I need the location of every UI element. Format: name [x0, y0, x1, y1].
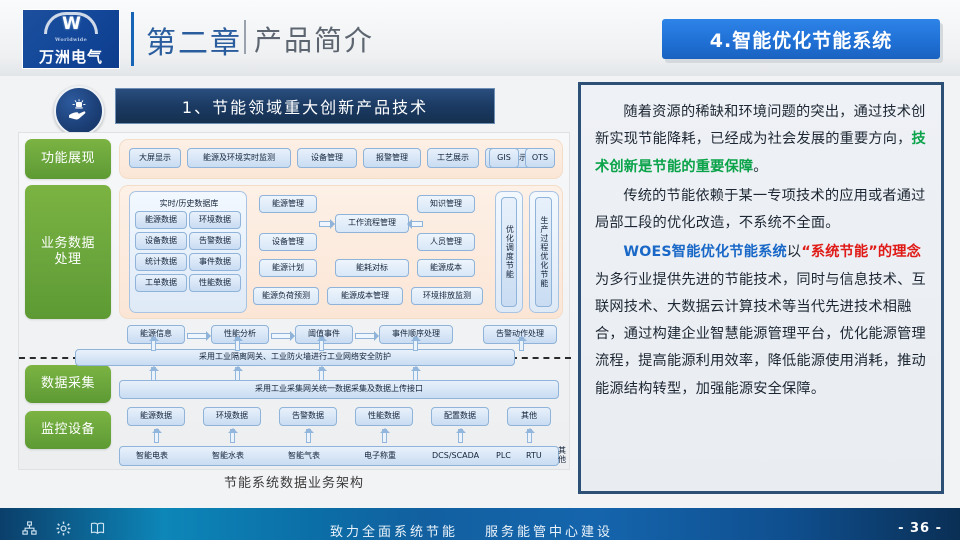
arrow-updown-data-3	[380, 429, 389, 443]
mgmt-row3-0[interactable]: 能源负荷预测	[253, 287, 319, 305]
arrow-updown-gw-1	[233, 367, 242, 381]
arrow-event-0-1	[187, 333, 207, 339]
data-item-1[interactable]: 环境数据	[203, 407, 261, 426]
mgmt-row2-1[interactable]: 能耗对标	[335, 259, 409, 277]
book-icon[interactable]	[90, 521, 105, 540]
section-title-label: 1、节能领域重大创新产品技术	[182, 94, 428, 118]
arrow-updown-gw-2	[317, 367, 326, 381]
function-item-0[interactable]: 大屏显示	[129, 148, 181, 168]
arrow-updown-gw-0	[149, 367, 158, 381]
arrow-event-2-3	[355, 333, 375, 339]
device-item-3[interactable]: 电子称重	[364, 452, 396, 461]
footer-slogan-1: 致力全面系统节能	[330, 521, 458, 540]
mgmt-row3-2[interactable]: 环境排放监测	[411, 287, 483, 305]
device-item-4[interactable]: DCS/SCADA	[432, 452, 479, 461]
paragraph-3: WOES智能优化节能系统以“系统节能”的理念为多行业提供先进的节能技术，同时与信…	[595, 239, 927, 403]
paragraph-3-product-name: WOES智能优化节能系统	[623, 244, 787, 260]
chapter-subtitle: 产品简介	[254, 19, 374, 59]
layer-label-function: 功能展现	[25, 139, 111, 179]
paragraph-2: 传统的节能依赖于某一专项技术的应用或者通过局部工段的优化改造，不系统不全面。	[595, 183, 927, 238]
data-item-5[interactable]: 其他	[507, 407, 551, 426]
layer-label-business: 业务数据 处理	[25, 185, 111, 319]
function-item-6[interactable]: GIS	[489, 148, 519, 168]
db-cell-1[interactable]: 环境数据	[189, 211, 241, 229]
paragraph-3-text-d: 为多行业提供先进的节能技术，同时与信息技术、互联网技术、大数据云计算技术等当代先…	[595, 272, 926, 397]
logo-company-name: 万洲电气	[39, 46, 103, 67]
slide-footer: 致力全面系统节能 服务能管中心建设 - 36 -	[0, 508, 960, 540]
optimization-item-1[interactable]: 生产过程优化节能	[535, 197, 552, 307]
slide-header: W Worldwide 万洲电气 第二章 产品简介 4.智能优化节能系统	[0, 0, 960, 76]
arrow-updown-data-5	[525, 429, 534, 443]
chapter-title: 第二章	[146, 18, 242, 62]
arrow-left-to-workflow	[319, 221, 331, 227]
collection-gateway-bar: 采用工业采集网关统一数据采集及数据上传接口	[119, 380, 559, 399]
device-item-1[interactable]: 智能水表	[212, 452, 244, 461]
device-item-0[interactable]: 智能电表	[136, 452, 168, 461]
db-cell-2[interactable]: 设备数据	[135, 232, 187, 250]
device-item-5[interactable]: PLC	[496, 452, 511, 461]
data-item-2[interactable]: 告警数据	[279, 407, 337, 426]
function-item-2[interactable]: 设备管理	[297, 148, 357, 168]
function-item-3[interactable]: 报警管理	[363, 148, 421, 168]
paragraph-1: 随着资源的稀缺和环境问题的突出，通过技术创新实现节能降耗，已经成为社会发展的重要…	[595, 99, 927, 181]
footer-slogan-2: 服务能管中心建设	[485, 521, 613, 540]
db-cell-0[interactable]: 能源数据	[135, 211, 187, 229]
logo-w-letter: W	[44, 14, 98, 34]
data-item-0[interactable]: 能源数据	[127, 407, 185, 426]
db-cell-4[interactable]: 统计数据	[135, 253, 187, 271]
section-title-bar: 1、节能领域重大创新产品技术	[115, 88, 495, 124]
layer-label-collection: 数据采集	[25, 365, 111, 403]
arrow-updown-data-4	[456, 429, 465, 443]
arrow-event-1-2	[271, 333, 291, 339]
db-cell-6[interactable]: 工单数据	[135, 274, 187, 292]
mgmt-right-0[interactable]: 知识管理	[417, 195, 475, 213]
header-divider	[131, 12, 134, 66]
section-badge-label: 4.智能优化节能系统	[710, 26, 892, 53]
device-item-7[interactable]: 其他	[558, 447, 566, 465]
architecture-diagram: 功能展现 业务数据 处理 数据采集 监控设备 大屏显示 能源及环境实时监测 设备…	[18, 132, 570, 470]
logo-emblem-icon: W	[44, 12, 98, 36]
gear-icon[interactable]	[56, 521, 71, 540]
mgmt-center-workflow[interactable]: 工作流程管理	[335, 214, 409, 233]
hand-idea-icon	[54, 86, 104, 136]
function-item-4[interactable]: 工艺展示	[427, 148, 479, 168]
database-group: 实时/历史数据库	[129, 191, 247, 313]
device-item-2[interactable]: 智能气表	[288, 452, 320, 461]
mgmt-row2-2[interactable]: 能源成本	[417, 259, 475, 277]
logo-latin-name: Worldwide	[55, 37, 87, 43]
arrow-right-to-workflow	[411, 221, 423, 227]
device-item-6[interactable]: RTU	[526, 452, 542, 461]
page-number: - 36 -	[898, 521, 942, 536]
arrow-updown-gw-3	[411, 367, 420, 381]
arrow-updown-sec-0	[149, 337, 158, 351]
database-group-title: 实时/历史数据库	[130, 198, 248, 209]
optimization-item-0[interactable]: 优化调度节能	[501, 197, 517, 307]
data-item-3[interactable]: 性能数据	[355, 407, 413, 426]
company-logo: W Worldwide 万洲电气	[22, 9, 120, 69]
arrow-updown-data-1	[228, 429, 237, 443]
chapter-title-divider	[244, 20, 246, 54]
dashed-divider-right	[511, 357, 571, 359]
db-cell-3[interactable]: 告警数据	[189, 232, 241, 250]
paragraph-3-concept-highlight: “系统节能”的理念	[801, 244, 921, 260]
diagram-caption: 节能系统数据业务架构	[18, 472, 570, 491]
arrow-updown-sec-3	[411, 337, 420, 351]
arrow-updown-data-0	[152, 429, 161, 443]
data-item-4[interactable]: 配置数据	[431, 407, 489, 426]
arrow-updown-data-2	[304, 429, 313, 443]
mgmt-row2-0[interactable]: 能源计划	[259, 259, 317, 277]
paragraph-1-text-a: 随着资源的稀缺和环境问题的突出，通过技术创新实现节能降耗，已经成为社会发展的重要…	[595, 104, 926, 147]
layer-label-business-line2: 处理	[54, 252, 81, 268]
db-cell-7[interactable]: 性能数据	[189, 274, 241, 292]
paragraph-1-text-b: 。	[753, 159, 767, 175]
layer-label-devices: 监控设备	[25, 411, 111, 449]
arrow-updown-sec-1	[233, 337, 242, 351]
paragraph-3-text-b: 以	[787, 244, 801, 260]
mgmt-right-1[interactable]: 人员管理	[417, 233, 475, 251]
sitemap-icon[interactable]	[22, 521, 37, 540]
db-cell-5[interactable]: 事件数据	[189, 253, 241, 271]
mgmt-row3-1[interactable]: 能源成本管理	[327, 287, 403, 305]
mgmt-left-1[interactable]: 设备管理	[259, 233, 317, 251]
function-item-1[interactable]: 能源及环境实时监测	[187, 148, 291, 168]
function-item-7[interactable]: OTS	[525, 148, 555, 168]
security-gateway-bar: 采用工业隔离网关、工业防火墙进行工业网络安全防护	[75, 349, 515, 366]
section-badge: 4.智能优化节能系统	[662, 19, 940, 59]
layer-label-business-line1: 业务数据	[41, 236, 95, 252]
dashed-divider-left	[19, 357, 79, 359]
arrow-updown-sec-4	[517, 337, 526, 351]
device-bar: 智能电表 智能水表 智能气表 电子称重 DCS/SCADA PLC RTU 其他	[119, 446, 559, 466]
mgmt-left-0[interactable]: 能源管理	[259, 195, 317, 213]
arrow-updown-sec-2	[317, 337, 326, 351]
description-panel: 随着资源的稀缺和环境问题的突出，通过技术创新实现节能降耗，已经成为社会发展的重要…	[578, 82, 944, 494]
